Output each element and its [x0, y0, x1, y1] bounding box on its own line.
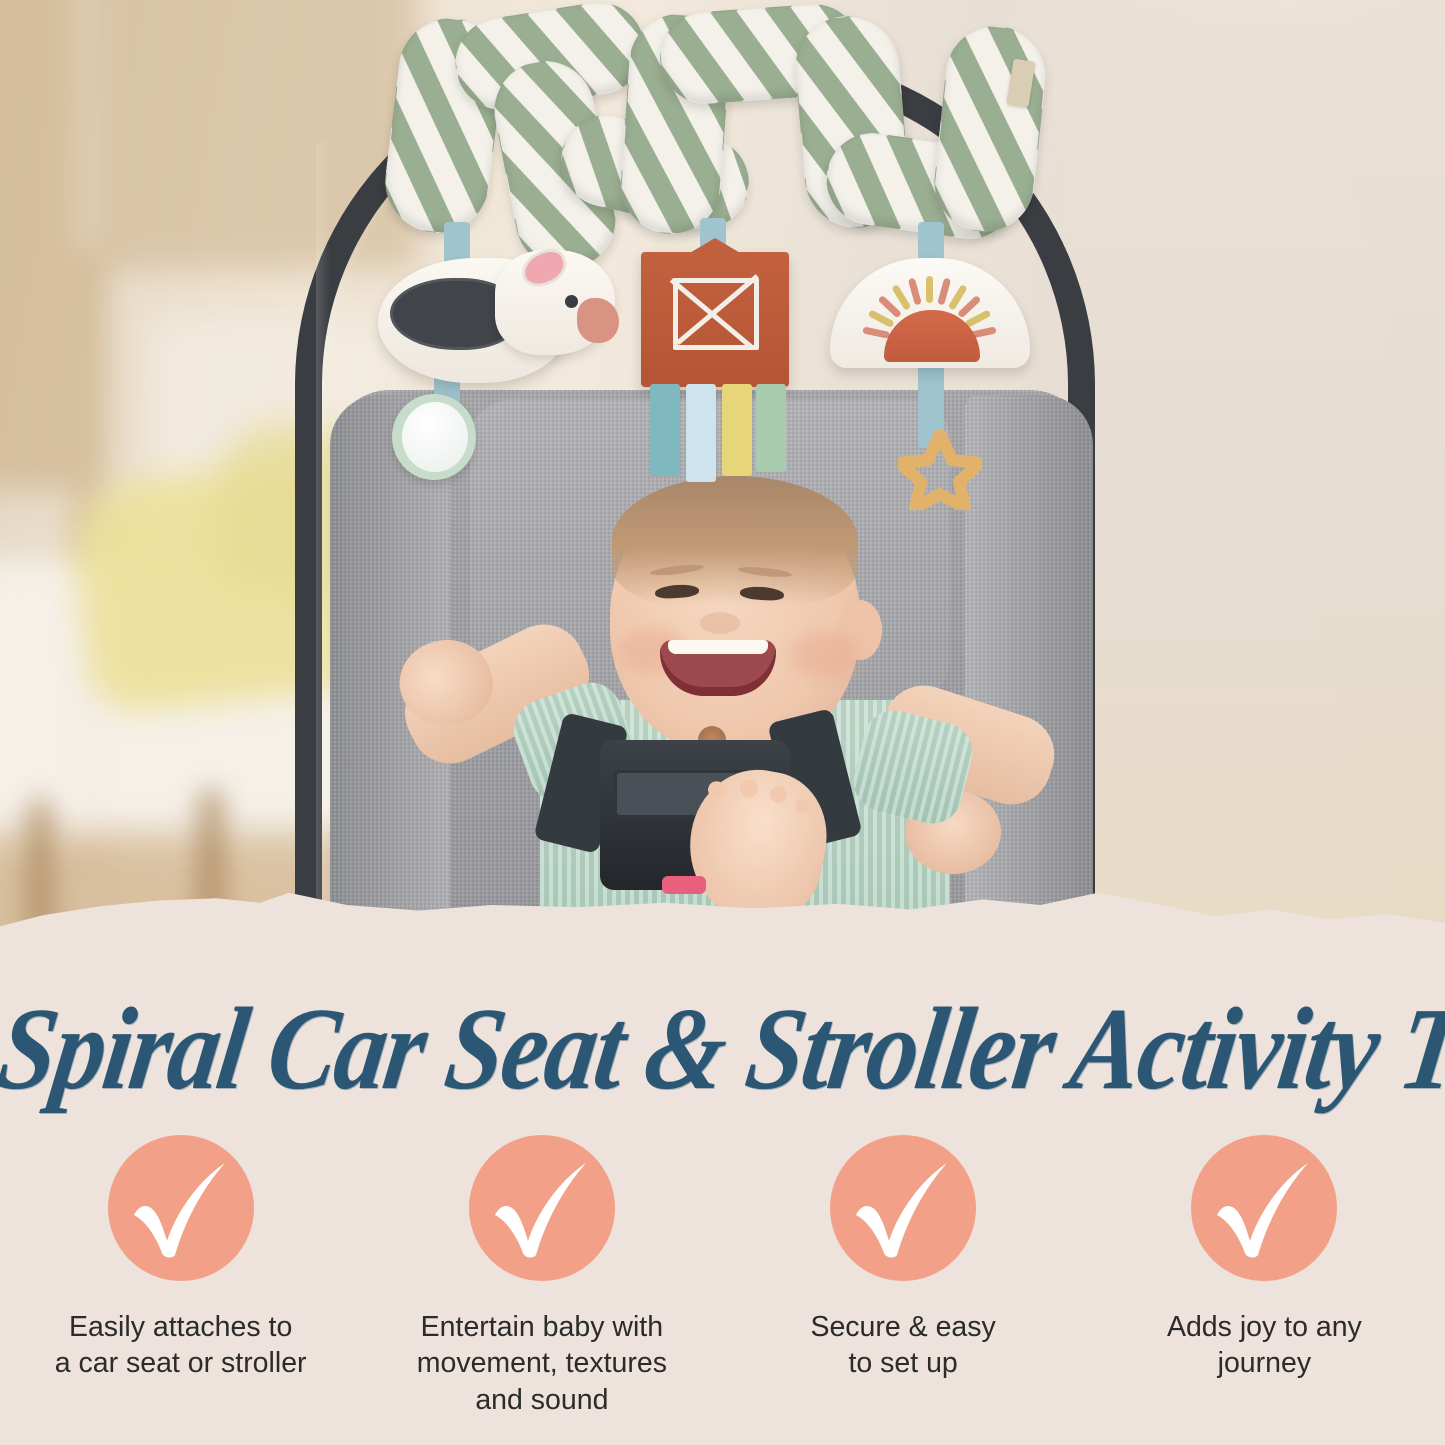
feature-item: Entertain baby withmovement, texturesand… [361, 1135, 722, 1435]
check-icon [1191, 1135, 1337, 1281]
star-teether-icon [898, 430, 982, 510]
baby-nose [700, 612, 740, 634]
feature-item: Adds joy to anyjourney [1084, 1135, 1445, 1435]
seat-pink-accent [662, 876, 706, 894]
cow-plush-snout [577, 298, 619, 343]
feature-caption: Secure & easyto set up [763, 1309, 1043, 1382]
product-photo-scene [0, 0, 1445, 960]
mirror-toy-surface [402, 402, 468, 472]
feature-list: Easily attaches toa car seat or stroller… [0, 1135, 1445, 1435]
feature-item: Easily attaches toa car seat or stroller [0, 1135, 361, 1435]
baby-cheek-right [790, 632, 860, 678]
tag-light-blue [686, 384, 716, 482]
feature-caption: Entertain baby withmovement, texturesand… [402, 1309, 682, 1418]
feature-item: Secure & easyto set up [723, 1135, 1084, 1435]
cow-plush-eye [565, 295, 578, 308]
check-icon [830, 1135, 976, 1281]
feature-caption: Easily attaches toa car seat or stroller [41, 1309, 321, 1382]
tag-sage [756, 384, 786, 472]
tag-teal [650, 384, 680, 476]
page-title: Spiral Car Seat & Stroller Activity Toy [0, 982, 1445, 1117]
feature-caption: Adds joy to anyjourney [1124, 1309, 1404, 1382]
check-icon [469, 1135, 615, 1281]
baby-hair [612, 476, 858, 606]
background-wall-left [0, 0, 80, 490]
sun-ray [926, 276, 933, 303]
tag-yellow [722, 384, 752, 476]
check-icon [108, 1135, 254, 1281]
